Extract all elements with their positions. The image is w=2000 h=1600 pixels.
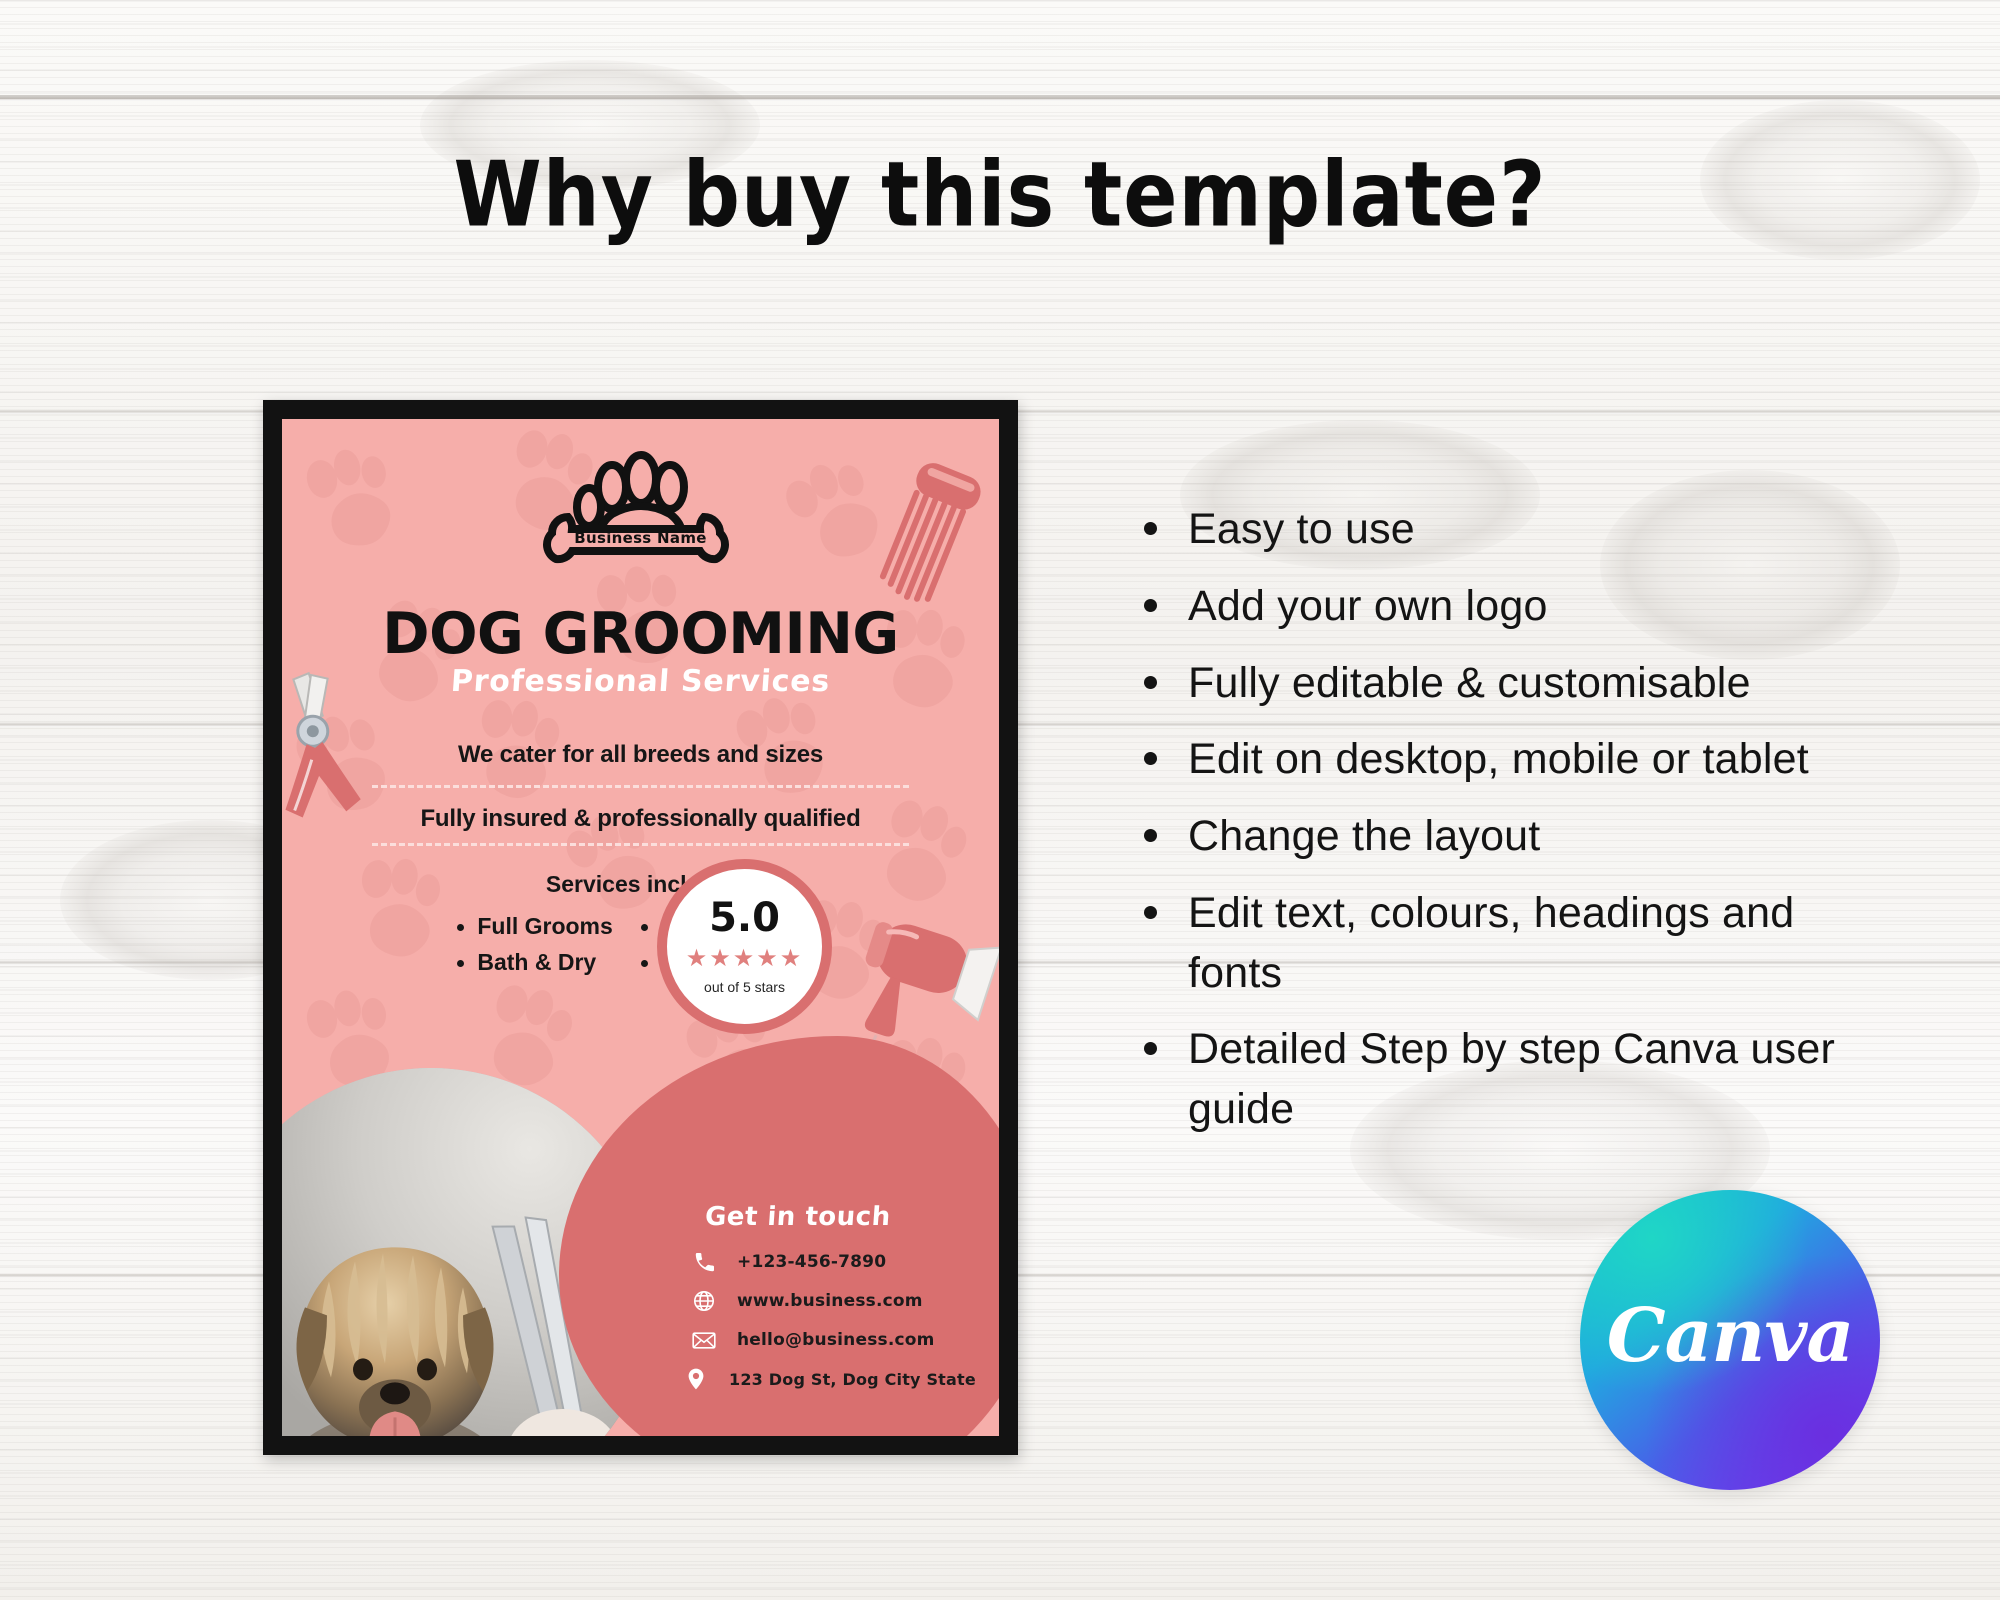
business-logo: Business Name <box>536 451 746 566</box>
poster-artwork: Business Name DOG GROOMING Professional … <box>282 419 999 1436</box>
services-left: Full Grooms Bath & Dry <box>455 913 612 985</box>
list-item: Add your own logo <box>1140 577 1880 637</box>
rating-stars: ★★★★★ <box>686 947 804 971</box>
benefits-list: Easy to use Add your own logo Fully edit… <box>1140 500 1880 1157</box>
contact-phone: +123-456-7890 <box>737 1252 886 1272</box>
contact-row-email: hello@business.com <box>685 1328 999 1352</box>
contact-website: www.business.com <box>737 1291 923 1311</box>
list-item: Bath & Dry <box>455 949 612 976</box>
divider <box>372 843 909 846</box>
tagline-breeds: We cater for all breeds and sizes <box>282 741 999 769</box>
divider <box>372 785 909 788</box>
location-pin-icon <box>677 1367 715 1391</box>
services-lists: Full Grooms Bath & Dry Puppy Grooms Nail… <box>282 913 999 985</box>
poster-frame: Business Name DOG GROOMING Professional … <box>263 400 1018 1455</box>
phone-icon <box>685 1250 723 1274</box>
logo-business-name: Business Name <box>536 529 746 547</box>
poster-subtitle: Professional Services <box>282 664 999 699</box>
tagline-insured: Fully insured & professionally qualified <box>282 805 999 833</box>
contact-row-phone: +123-456-7890 <box>685 1250 999 1274</box>
canva-wordmark: Canva <box>1607 1293 1854 1379</box>
list-item: Detailed Step by step Canva user guide <box>1140 1020 1880 1140</box>
contact-row-website: www.business.com <box>685 1289 999 1313</box>
contact-block: Get in touch +123-456-7890 ww <box>633 1202 999 1430</box>
rating-badge: 5.0 ★★★★★ out of 5 stars <box>657 859 832 1034</box>
paw-bone-icon <box>536 451 746 566</box>
list-item: Edit on desktop, mobile or tablet <box>1140 730 1880 790</box>
canva-logo: Canva <box>1580 1190 1880 1490</box>
contact-address: 123 Dog St, Dog City State <box>729 1370 976 1389</box>
page-title: Why buy this template? <box>0 142 2000 246</box>
contact-email: hello@business.com <box>737 1330 935 1350</box>
globe-icon <box>685 1289 723 1313</box>
envelope-icon <box>685 1328 723 1352</box>
services-label: Services include: <box>282 871 999 898</box>
rating-value: 5.0 <box>709 898 780 938</box>
list-item: Easy to use <box>1140 500 1880 560</box>
contact-heading: Get in touch <box>704 1202 999 1232</box>
list-item: Edit text, colours, headings and fonts <box>1140 884 1880 1004</box>
list-item: Full Grooms <box>455 913 612 940</box>
list-item: Change the layout <box>1140 807 1880 867</box>
poster-title: DOG GROOMING <box>282 601 999 667</box>
rating-caption: out of 5 stars <box>704 979 785 995</box>
list-item: Fully editable & customisable <box>1140 654 1880 714</box>
contact-row-address: 123 Dog St, Dog City State <box>677 1367 999 1391</box>
